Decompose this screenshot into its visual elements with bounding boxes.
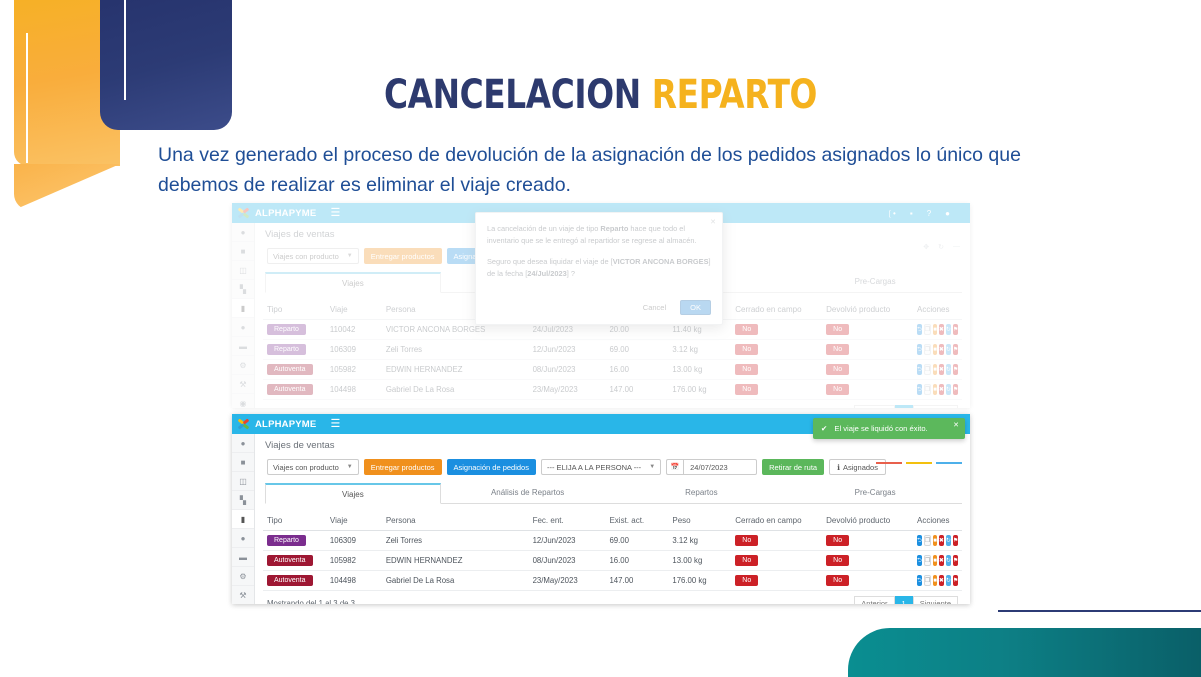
status-badge-cerrado: No xyxy=(735,364,758,375)
cell-existencia: 69.00 xyxy=(605,340,668,360)
modal-p2-post: ] ? xyxy=(567,269,575,278)
cell-fecha: 12/Jun/2023 xyxy=(529,531,606,551)
pager-current-top[interactable]: 1 xyxy=(895,405,913,408)
asignacion-pedidos-button[interactable]: Asignación de pedidos xyxy=(447,459,536,475)
color-indicator-bars xyxy=(876,462,962,464)
cell-cerrado: No xyxy=(731,551,822,571)
cell-tipo: Autoventa xyxy=(263,551,326,571)
sidebar-item-tools[interactable]: ⚒ xyxy=(232,375,254,394)
flag-icon[interactable]: ⚑ xyxy=(953,344,958,355)
pager-current[interactable]: 1 xyxy=(895,596,913,604)
stop-icon[interactable]: ■ xyxy=(933,575,937,586)
sidebar-item-bookmark[interactable]: ■ xyxy=(232,242,254,261)
page-title: CANCELACION REPARTO xyxy=(108,72,1093,118)
sidebar-bottom: ● ■ ◫ ▚ ▮ ● ▬ ⚙ ⚒ ◉ xyxy=(232,434,255,604)
cell-viaje: 105982 xyxy=(326,360,382,380)
open-folder-icon[interactable]: ⮌ xyxy=(917,384,922,395)
cell-viaje: 104498 xyxy=(326,571,382,591)
cell-persona: Gabriel De La Rosa xyxy=(382,571,529,591)
content-page-title-bottom: Viajes de ventas xyxy=(263,438,962,456)
sidebar-item-chart[interactable]: ▚ xyxy=(232,491,254,510)
cell-fecha: 08/Jun/2023 xyxy=(529,360,606,380)
status-badge-cerrado: No xyxy=(735,575,758,586)
col-fecha: Fec. ent. xyxy=(529,511,606,531)
table-row[interactable]: Reparto106309Zeli Torres12/Jun/202369.00… xyxy=(263,531,962,551)
col-acciones: Acciones xyxy=(913,511,962,531)
table-body-top: Reparto110042VICTOR ANCONA BORGES24/Jul/… xyxy=(263,320,962,400)
chevron-down-icon: ▼ xyxy=(347,253,353,259)
minus-icon[interactable]: — xyxy=(953,243,960,251)
slide: CANCELACION REPARTO Una vez generado el … xyxy=(0,0,1201,677)
pager-prev-top[interactable]: Anterior xyxy=(854,405,894,408)
cell-existencia: 16.00 xyxy=(605,551,668,571)
status-badge-cerrado: No xyxy=(735,555,758,566)
sidebar-item-user[interactable]: ● xyxy=(232,434,254,453)
cell-tipo: Autoventa xyxy=(263,380,326,400)
hamburger-icon[interactable]: ☰ xyxy=(330,419,340,430)
open-folder-icon[interactable]: ⮌ xyxy=(917,324,922,335)
trash-icon[interactable]: ✖ xyxy=(939,535,944,546)
date-picker[interactable]: 📅 24/07/2023 xyxy=(666,459,757,475)
select-persona[interactable]: --- ELIJA A LA PERSONA --- ▼ xyxy=(541,459,661,475)
status-badge-devolvio: No xyxy=(826,344,849,355)
col-viaje-top: Viaje xyxy=(326,300,382,320)
tipo-badge: Autoventa xyxy=(267,555,313,566)
cell-existencia: 147.00 xyxy=(605,380,668,400)
file-icon[interactable]: ❐ xyxy=(924,364,931,375)
mini-icons-top: ✥ ↻ — xyxy=(923,243,960,251)
stop-icon[interactable]: ■ xyxy=(933,364,937,375)
navbar-right-icons-top: ❲• ▪ ? ● xyxy=(886,209,964,218)
indicator-bar-blue xyxy=(936,462,962,464)
cell-cerrado: No xyxy=(731,531,822,551)
flag-icon[interactable]: ⚑ xyxy=(953,535,958,546)
cell-peso: 176.00 kg xyxy=(668,380,731,400)
table-footer-top: Mostrando del 1 al 4 de 4 Anterior 1 Sig… xyxy=(263,400,962,408)
pager-next-top[interactable]: Siguiente xyxy=(913,405,958,408)
close-icon[interactable]: ✕ xyxy=(953,421,959,429)
cell-devolvio: No xyxy=(822,320,913,340)
flag-icon[interactable]: ⚑ xyxy=(953,555,958,566)
share-icon[interactable]: ❲• xyxy=(886,209,896,218)
cell-viaje: 106309 xyxy=(326,531,382,551)
cell-persona: EDWIN HERNANDEZ xyxy=(382,551,529,571)
confirm-modal: ✕ La cancelación de un viaje de tipo Rep… xyxy=(475,212,723,325)
select-viajes-bottom[interactable]: Viajes con producto ▼ xyxy=(267,459,359,475)
action-buttons: ⮌❐■✖↻⚑ xyxy=(917,364,958,375)
entregar-productos-button[interactable]: Entregar productos xyxy=(364,459,442,475)
cell-devolvio: No xyxy=(822,360,913,380)
modal-footer: Cancel OK xyxy=(476,295,722,324)
lead-paragraph: Una vez generado el proceso de devolució… xyxy=(158,140,1106,200)
select-viajes-label-top: Viajes con producto xyxy=(273,252,339,261)
tipo-badge: Reparto xyxy=(267,344,306,355)
select-viajes-label-bottom: Viajes con producto xyxy=(273,463,339,472)
sidebar-item-user[interactable]: ● xyxy=(232,223,254,242)
tabs-bottom: Viajes Análisis de Repartos Repartos Pre… xyxy=(265,483,962,504)
col-tipo: Tipo xyxy=(263,511,326,531)
status-badge-devolvio: No xyxy=(826,555,849,566)
close-icon[interactable]: ✕ xyxy=(710,217,716,229)
col-cerrado-top: Cerrado en campo xyxy=(731,300,822,320)
sidebar-item-settings[interactable]: ⚙ xyxy=(232,567,254,586)
refresh-icon[interactable]: ↻ xyxy=(946,344,951,355)
refresh-icon[interactable]: ↻ xyxy=(946,324,951,335)
user-icon[interactable]: ● xyxy=(945,209,950,218)
table-row[interactable]: Autoventa105982EDWIN HERNANDEZ08/Jun/202… xyxy=(263,551,962,571)
cell-existencia: 16.00 xyxy=(605,360,668,380)
cell-acciones: ⮌❐■✖↻⚑ xyxy=(913,551,962,571)
cell-fecha: 23/May/2023 xyxy=(529,380,606,400)
cell-tipo: Reparto xyxy=(263,340,326,360)
tab-precargas[interactable]: Pre-Cargas xyxy=(788,483,962,503)
tab-viajes-top[interactable]: Viajes xyxy=(265,272,441,293)
check-icon: ✔ xyxy=(821,424,827,433)
pager-next[interactable]: Siguiente xyxy=(913,596,958,604)
modal-p1-bold: Reparto xyxy=(600,224,628,233)
flag-icon[interactable]: ⚑ xyxy=(953,575,958,586)
file-icon[interactable]: ❐ xyxy=(924,555,931,566)
cell-peso: 176.00 kg xyxy=(668,571,731,591)
pager-bottom: Anterior 1 Siguiente xyxy=(854,596,958,604)
chevron-down-icon: ▼ xyxy=(649,464,655,470)
status-badge-devolvio: No xyxy=(826,364,849,375)
brand-name-bottom: ALPHAPYME xyxy=(255,419,316,430)
col-viaje: Viaje xyxy=(326,511,382,531)
select-persona-label: --- ELIJA A LA PERSONA --- xyxy=(547,463,641,472)
screenshot-bottom: ALPHAPYME ☰ ✔ El viaje se liquidó con éx… xyxy=(232,414,970,604)
showing-label-bottom: Mostrando del 1 al 3 de 3 xyxy=(267,599,355,604)
retirar-de-ruta-button[interactable]: Retirar de ruta xyxy=(762,459,824,475)
pager-prev[interactable]: Anterior xyxy=(854,596,894,604)
stop-icon[interactable]: ■ xyxy=(933,555,937,566)
trash-icon[interactable]: ✖ xyxy=(939,344,944,355)
modal-p2-bold-person: VICTOR ANCONA BORGES xyxy=(613,257,709,266)
cell-tipo: Autoventa xyxy=(263,571,326,591)
tipo-badge: Autoventa xyxy=(267,364,313,375)
status-badge-devolvio: No xyxy=(826,575,849,586)
cell-persona: EDWIN HERNANDEZ xyxy=(382,360,529,380)
cell-peso: 3.12 kg xyxy=(668,531,731,551)
open-folder-icon[interactable]: ⮌ xyxy=(917,364,922,375)
cell-cerrado: No xyxy=(731,340,822,360)
cell-viaje: 105982 xyxy=(326,551,382,571)
action-buttons: ⮌❐■✖↻⚑ xyxy=(917,324,958,335)
cell-acciones: ⮌❐■✖↻⚑ xyxy=(913,380,962,400)
info-icon: ℹ xyxy=(837,463,840,472)
title-part-one: CANCELACION xyxy=(384,72,641,118)
brand-name-top: ALPHAPYME xyxy=(255,208,316,219)
stop-icon[interactable]: ■ xyxy=(933,384,937,395)
status-badge-cerrado: No xyxy=(735,324,758,335)
col-tipo-top: Tipo xyxy=(263,300,326,320)
cell-devolvio: No xyxy=(822,340,913,360)
tipo-badge: Reparto xyxy=(267,324,306,335)
cell-persona: Gabriel De La Rosa xyxy=(382,380,529,400)
trash-icon[interactable]: ✖ xyxy=(939,364,944,375)
cell-fecha: 23/May/2023 xyxy=(529,571,606,591)
action-buttons: ⮌❐■✖↻⚑ xyxy=(917,535,958,546)
refresh-icon[interactable]: ↻ xyxy=(946,575,951,586)
action-buttons: ⮌❐■✖↻⚑ xyxy=(917,555,958,566)
chat-icon[interactable]: ▪ xyxy=(910,209,913,218)
flag-icon[interactable]: ⚑ xyxy=(953,324,958,335)
indicator-bar-red xyxy=(876,462,902,464)
modal-paragraph-2: Seguro que desea liquidar el viaje de [V… xyxy=(487,256,711,280)
table-row[interactable]: Autoventa105982EDWIN HERNANDEZ08/Jun/202… xyxy=(263,360,962,380)
stop-icon[interactable]: ■ xyxy=(933,344,937,355)
modal-p2-bold-date: 24/Jul/2023 xyxy=(527,269,566,278)
action-buttons: ⮌❐■✖↻⚑ xyxy=(917,344,958,355)
viajes-table-bottom: Tipo Viaje Persona Fec. ent. Exist. act.… xyxy=(263,511,962,591)
alphapyme-logo-icon xyxy=(238,419,252,430)
asignados-label: Asignados xyxy=(843,463,878,472)
modal-paragraph-1: La cancelación de un viaje de tipo Repar… xyxy=(487,223,711,247)
decorative-teal-shape xyxy=(848,628,1201,677)
toast-message: El viaje se liquidó con éxito. xyxy=(834,424,927,433)
table-row[interactable]: Reparto106309Zeli Torres12/Jun/202369.00… xyxy=(263,340,962,360)
cell-devolvio: No xyxy=(822,571,913,591)
cell-viaje: 110042 xyxy=(326,320,382,340)
screenshot-top: ALPHAPYME ☰ ❲• ▪ ? ● ● ■ ◫ ▚ ▮ ● ▬ ⚙ ⚒ ◉ xyxy=(232,203,970,408)
cell-acciones: ⮌❐■✖↻⚑ xyxy=(913,571,962,591)
refresh-icon[interactable]: ↻ xyxy=(938,243,944,251)
cell-tipo: Reparto xyxy=(263,320,326,340)
modal-body: ✕ La cancelación de un viaje de tipo Rep… xyxy=(476,213,722,295)
cell-acciones: ⮌❐■✖↻⚑ xyxy=(913,360,962,380)
cell-cerrado: No xyxy=(731,571,822,591)
chevron-down-icon: ▼ xyxy=(347,464,353,470)
trash-icon[interactable]: ✖ xyxy=(939,384,944,395)
tab-analisis-repartos[interactable]: Análisis de Repartos xyxy=(441,483,615,503)
col-cerrado: Cerrado en campo xyxy=(731,511,822,531)
brand-bottom[interactable]: ALPHAPYME xyxy=(238,419,316,430)
table-header-row-bottom: Tipo Viaje Persona Fec. ent. Exist. act.… xyxy=(263,511,962,531)
cell-tipo: Reparto xyxy=(263,531,326,551)
hamburger-icon[interactable]: ☰ xyxy=(330,208,340,219)
col-persona: Persona xyxy=(382,511,529,531)
cell-cerrado: No xyxy=(731,360,822,380)
select-viajes-top[interactable]: Viajes con producto ▼ xyxy=(267,248,359,264)
status-badge-devolvio: No xyxy=(826,324,849,335)
sidebar-item-briefcase[interactable]: ▬ xyxy=(232,548,254,567)
file-icon[interactable]: ❐ xyxy=(924,575,931,586)
modal-p1-pre: La cancelación de un viaje de tipo xyxy=(487,224,600,233)
title-part-two: REPARTO xyxy=(652,72,817,118)
cell-peso: 13.00 kg xyxy=(668,360,731,380)
tipo-badge: Autoventa xyxy=(267,384,313,395)
app-content-bottom: Viajes de ventas Viajes con producto ▼ E… xyxy=(255,434,970,604)
cancel-button[interactable]: Cancel xyxy=(635,300,674,315)
refresh-icon[interactable]: ↻ xyxy=(946,535,951,546)
sidebar-item-truck[interactable]: ▮ xyxy=(232,299,254,318)
refresh-icon[interactable]: ↻ xyxy=(946,555,951,566)
file-icon[interactable]: ❐ xyxy=(924,535,931,546)
expand-icon[interactable]: ✥ xyxy=(923,243,929,251)
open-folder-icon[interactable]: ⮌ xyxy=(917,575,922,586)
cell-viaje: 106309 xyxy=(326,340,382,360)
cell-tipo: Autoventa xyxy=(263,360,326,380)
cell-peso: 13.00 kg xyxy=(668,551,731,571)
refresh-icon[interactable]: ↻ xyxy=(946,384,951,395)
cell-fecha: 12/Jun/2023 xyxy=(529,340,606,360)
cell-persona: Zeli Torres xyxy=(382,340,529,360)
cell-existencia: 69.00 xyxy=(605,531,668,551)
col-devolvio-top: Devolvió producto xyxy=(822,300,913,320)
sidebar-top: ● ■ ◫ ▚ ▮ ● ▬ ⚙ ⚒ ◉ xyxy=(232,223,255,408)
cell-fecha: 08/Jun/2023 xyxy=(529,551,606,571)
tipo-badge: Autoventa xyxy=(267,575,313,586)
indicator-bar-yellow xyxy=(906,462,932,464)
ok-button[interactable]: OK xyxy=(680,300,711,315)
table-body-bottom: Reparto106309Zeli Torres12/Jun/202369.00… xyxy=(263,531,962,591)
toolbar-bottom: Viajes con producto ▼ Entregar productos… xyxy=(263,456,962,481)
help-icon[interactable]: ? xyxy=(927,209,931,218)
file-icon[interactable]: ❐ xyxy=(924,384,931,395)
file-icon[interactable]: ❐ xyxy=(924,344,931,355)
status-badge-devolvio: No xyxy=(826,384,849,395)
status-badge-devolvio: No xyxy=(826,535,849,546)
sidebar-item-bookmark[interactable]: ■ xyxy=(232,453,254,472)
cell-acciones: ⮌❐■✖↻⚑ xyxy=(913,320,962,340)
cell-peso: 3.12 kg xyxy=(668,340,731,360)
cell-devolvio: No xyxy=(822,551,913,571)
flag-icon[interactable]: ⚑ xyxy=(953,384,958,395)
status-badge-cerrado: No xyxy=(735,535,758,546)
pager-top: Anterior 1 Siguiente xyxy=(854,405,958,408)
refresh-icon[interactable]: ↻ xyxy=(946,364,951,375)
open-folder-icon[interactable]: ⮌ xyxy=(917,344,922,355)
table-row[interactable]: Autoventa104498Gabriel De La Rosa23/May/… xyxy=(263,380,962,400)
cell-existencia: 147.00 xyxy=(605,571,668,591)
col-peso: Peso xyxy=(668,511,731,531)
cell-viaje: 104498 xyxy=(326,380,382,400)
sidebar-item-settings[interactable]: ⚙ xyxy=(232,356,254,375)
success-toast: ✔ El viaje se liquidó con éxito. ✕ xyxy=(813,418,965,439)
cell-devolvio: No xyxy=(822,531,913,551)
stop-icon[interactable]: ■ xyxy=(933,324,937,335)
tab-viajes[interactable]: Viajes xyxy=(265,483,441,504)
open-folder-icon[interactable]: ⮌ xyxy=(917,535,922,546)
modal-p2-pre: Seguro que desea liquidar el viaje de [ xyxy=(487,257,613,266)
decorative-white-line-yellow xyxy=(26,33,28,163)
sidebar-item-clock[interactable]: ◉ xyxy=(232,394,254,408)
table-footer-bottom: Mostrando del 1 al 3 de 3 Anterior 1 Sig… xyxy=(263,591,962,604)
action-buttons: ⮌❐■✖↻⚑ xyxy=(917,575,958,586)
cell-acciones: ⮌❐■✖↻⚑ xyxy=(913,531,962,551)
sidebar-item-map-pin[interactable]: ● xyxy=(232,318,254,337)
action-buttons: ⮌❐■✖↻⚑ xyxy=(917,384,958,395)
app-body-bottom: ● ■ ◫ ▚ ▮ ● ▬ ⚙ ⚒ ◉ Viajes de ventas xyxy=(232,434,970,604)
tipo-badge: Reparto xyxy=(267,535,306,546)
status-badge-cerrado: No xyxy=(735,344,758,355)
cell-acciones: ⮌❐■✖↻⚑ xyxy=(913,340,962,360)
open-folder-icon[interactable]: ⮌ xyxy=(917,555,922,566)
file-icon[interactable]: ❐ xyxy=(924,324,931,335)
decorative-navy-rule xyxy=(998,610,1201,612)
date-input[interactable]: 24/07/2023 xyxy=(683,459,757,475)
flag-icon[interactable]: ⚑ xyxy=(953,364,958,375)
tab-precargas-top[interactable]: Pre-Cargas xyxy=(788,272,962,292)
sidebar-item-archive[interactable]: ◫ xyxy=(232,472,254,491)
cell-devolvio: No xyxy=(822,380,913,400)
cell-cerrado: No xyxy=(731,380,822,400)
stop-icon[interactable]: ■ xyxy=(933,535,937,546)
trash-icon[interactable]: ✖ xyxy=(939,324,944,335)
table-row[interactable]: Autoventa104498Gabriel De La Rosa23/May/… xyxy=(263,571,962,591)
sidebar-item-archive[interactable]: ◫ xyxy=(232,261,254,280)
sidebar-item-tools[interactable]: ⚒ xyxy=(232,586,254,604)
brand-top[interactable]: ALPHAPYME xyxy=(238,208,316,219)
alphapyme-logo-icon xyxy=(238,208,252,219)
calendar-icon[interactable]: 📅 xyxy=(666,459,683,475)
col-acciones-top: Acciones xyxy=(913,300,962,320)
col-existencia: Exist. act. xyxy=(605,511,668,531)
cell-persona: Zeli Torres xyxy=(382,531,529,551)
col-devolvio: Devolvió producto xyxy=(822,511,913,531)
entregar-productos-button-top[interactable]: Entregar productos xyxy=(364,248,442,264)
status-badge-cerrado: No xyxy=(735,384,758,395)
sidebar-item-chart[interactable]: ▚ xyxy=(232,280,254,299)
sidebar-item-briefcase[interactable]: ▬ xyxy=(232,337,254,356)
trash-icon[interactable]: ✖ xyxy=(939,555,944,566)
sidebar-item-truck[interactable]: ▮ xyxy=(232,510,254,529)
sidebar-item-map-pin[interactable]: ● xyxy=(232,529,254,548)
cell-cerrado: No xyxy=(731,320,822,340)
tab-repartos[interactable]: Repartos xyxy=(615,483,789,503)
trash-icon[interactable]: ✖ xyxy=(939,575,944,586)
